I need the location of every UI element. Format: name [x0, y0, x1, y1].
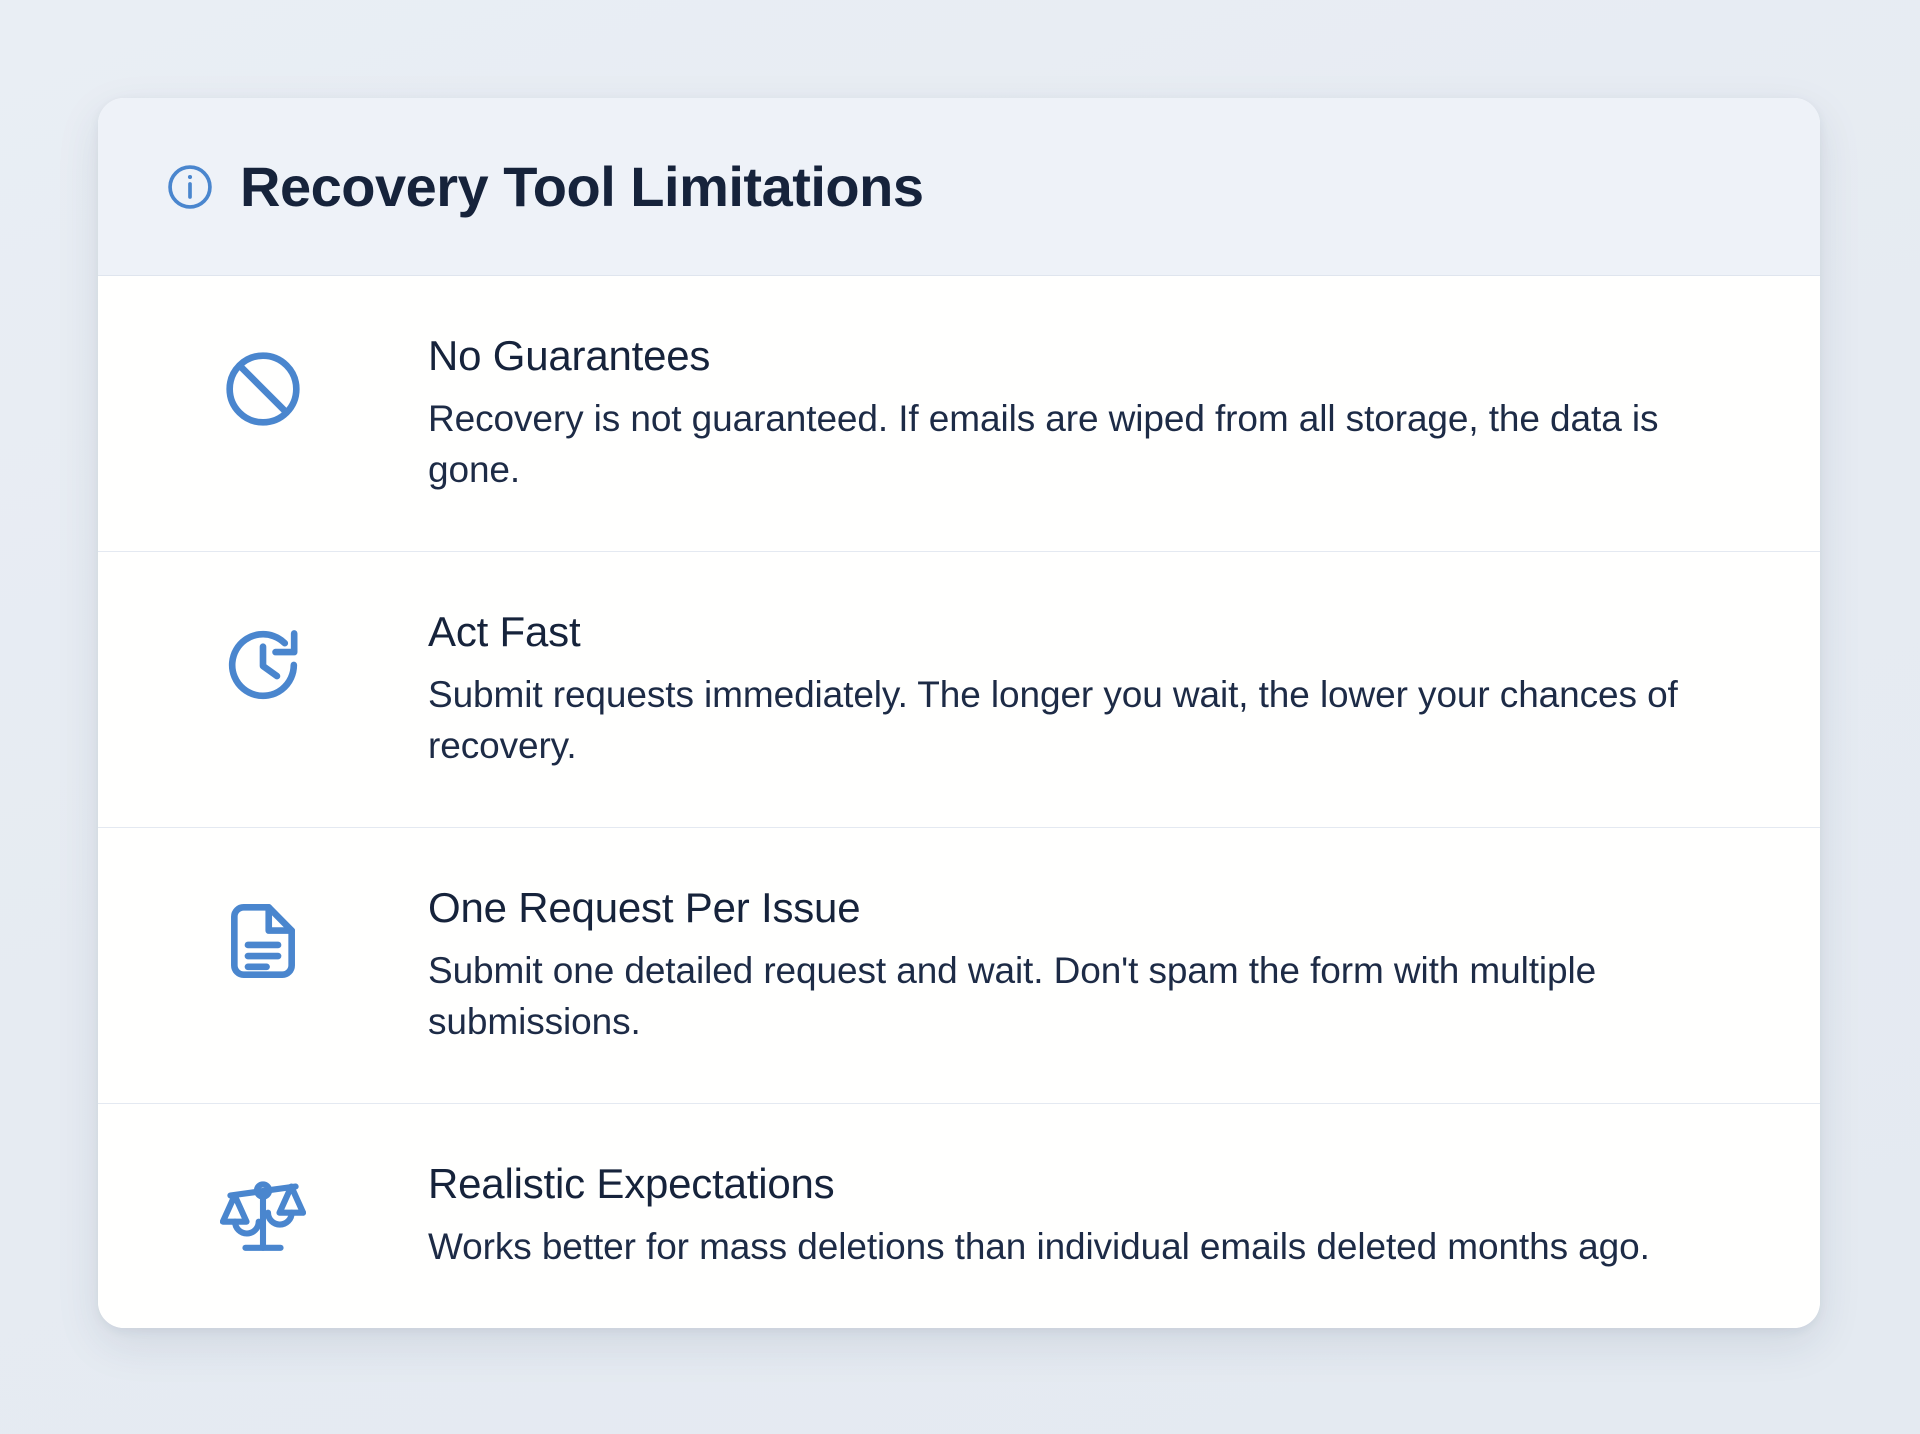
row-body: Act Fast Submit requests immediately. Th…: [428, 608, 1758, 771]
row-body: No Guarantees Recovery is not guaranteed…: [428, 332, 1758, 495]
limitations-card: Recovery Tool Limitations No Guarantees …: [98, 98, 1820, 1328]
page-background: Recovery Tool Limitations No Guarantees …: [0, 0, 1920, 1434]
list-item-description: Submit requests immediately. The longer …: [428, 669, 1718, 771]
info-circle-icon: [164, 161, 216, 213]
clock-arrow-icon: [220, 622, 306, 708]
list-item-title: One Request Per Issue: [428, 884, 1718, 931]
list-item: Act Fast Submit requests immediately. Th…: [98, 552, 1820, 828]
prohibition-icon: [220, 346, 306, 432]
row-body: One Request Per Issue Submit one detaile…: [428, 884, 1758, 1047]
list-item: Realistic Expectations Works better for …: [98, 1104, 1820, 1328]
row-icon-cell: [98, 1160, 428, 1260]
page-title: Recovery Tool Limitations: [240, 159, 923, 215]
list-item: No Guarantees Recovery is not guaranteed…: [98, 276, 1820, 552]
row-icon-cell: [98, 332, 428, 432]
list-item-title: Realistic Expectations: [428, 1160, 1748, 1207]
row-body: Realistic Expectations Works better for …: [428, 1160, 1758, 1272]
card-header: Recovery Tool Limitations: [98, 98, 1820, 276]
scales-icon: [220, 1174, 306, 1260]
list-item-description: Works better for mass deletions than ind…: [428, 1221, 1748, 1272]
limitations-list: No Guarantees Recovery is not guaranteed…: [98, 276, 1820, 1328]
list-item-title: No Guarantees: [428, 332, 1718, 379]
row-icon-cell: [98, 884, 428, 984]
list-item-description: Recovery is not guaranteed. If emails ar…: [428, 393, 1718, 495]
list-item-title: Act Fast: [428, 608, 1718, 655]
row-icon-cell: [98, 608, 428, 708]
list-item: One Request Per Issue Submit one detaile…: [98, 828, 1820, 1104]
document-icon: [220, 898, 306, 984]
list-item-description: Submit one detailed request and wait. Do…: [428, 945, 1718, 1047]
